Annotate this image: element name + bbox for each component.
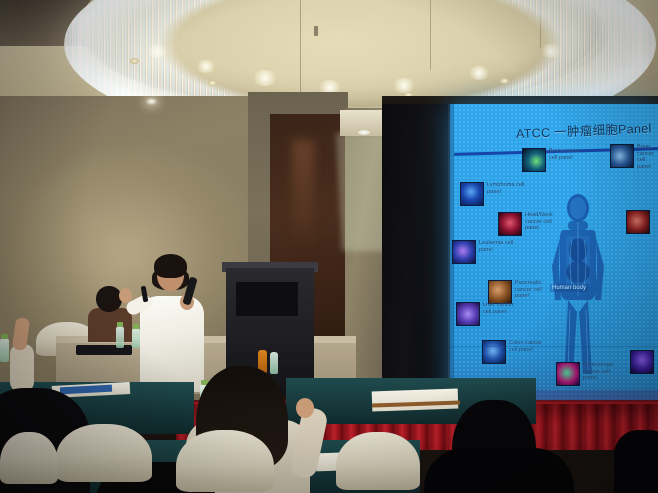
ceiling-downlight-icon xyxy=(146,98,157,105)
conference-room-photo: ATCC 一肿瘤细胞Panel Human body Lymphoma cell… xyxy=(0,0,658,493)
presenter-hair xyxy=(154,254,187,278)
chandelier-sparkle xyxy=(252,70,278,86)
extra-thumbnail-2 xyxy=(630,350,654,374)
water-bottle[interactable] xyxy=(116,326,124,348)
extra-thumbnail xyxy=(626,210,650,234)
colon-cancer-thumbnail xyxy=(482,340,506,364)
chair-back xyxy=(176,430,274,492)
water-bottle[interactable] xyxy=(270,352,278,374)
lymphoma-cell-panel-item[interactable]: Lymphoma cell panel xyxy=(460,182,527,206)
lectern-monitor[interactable] xyxy=(236,282,298,316)
leukemia-cell-panel-item[interactable]: Leukemia cell panel xyxy=(452,240,519,264)
bottle-cap xyxy=(1,334,8,339)
recessed-downlight xyxy=(130,58,139,64)
audience-member-hand xyxy=(296,398,314,418)
right-cell-thumbnail-2 xyxy=(630,350,654,374)
chandelier-sparkle xyxy=(540,44,562,58)
recessed-downlight xyxy=(208,80,217,86)
presenter-left-hand xyxy=(119,288,132,303)
panel-label: Brain cancer cell panel xyxy=(549,148,589,161)
screen-panel-seam xyxy=(450,346,658,347)
panel-label: Bone cancer cell panel xyxy=(637,144,658,170)
head-neck-cancer-cell-panel-item[interactable]: Head/Neck cancer cell panel xyxy=(498,212,565,236)
bottle-cap xyxy=(133,324,139,329)
brain-cancer-thumbnail xyxy=(522,148,546,172)
right-cell-thumbnail xyxy=(626,210,650,234)
panel-label: Leukemia cell panel xyxy=(479,240,519,253)
human-body-label: Human body xyxy=(550,284,588,292)
gynecologic-cancer-cell-panel-item[interactable]: Gynecologic cancer cell panel xyxy=(556,362,623,386)
sconce-bulb-icon xyxy=(358,130,370,135)
recessed-downlight xyxy=(500,78,509,84)
chair-back xyxy=(336,432,420,490)
chair-back xyxy=(56,424,152,482)
projection-screen[interactable]: ATCC 一肿瘤细胞Panel Human body Lymphoma cell… xyxy=(450,104,658,420)
chandelier-sparkle xyxy=(392,78,416,93)
foreground-silhouette xyxy=(424,448,574,493)
raised-arm xyxy=(10,344,34,392)
bone-cancer-cell-panel-item[interactable]: Bone cancer cell panel xyxy=(610,144,658,170)
presenter-body xyxy=(140,296,204,392)
chandelier-sparkle xyxy=(468,66,490,80)
leukemia-thumbnail xyxy=(452,240,476,264)
head-neck-cancer-thumbnail xyxy=(498,212,522,236)
panel-label: Head/Neck cancer cell panel xyxy=(525,212,565,232)
liver-cancer-thumbnail xyxy=(456,302,480,326)
panel-label: Lymphoma cell panel xyxy=(487,182,527,195)
foreground-silhouette xyxy=(614,430,658,493)
pancreatic-cancer-cell-panel-item[interactable]: Pancreatic cancer cell panel xyxy=(488,280,555,304)
water-bottle[interactable] xyxy=(132,328,140,348)
panel-label: Gynecologic cancer cell panel xyxy=(583,362,623,382)
seated-attendee-body xyxy=(88,308,132,342)
bottle-cap xyxy=(117,322,123,327)
pancreatic-cancer-thumbnail xyxy=(488,280,512,304)
bone-cancer-thumbnail xyxy=(610,144,634,168)
seated-attendee-head xyxy=(96,286,122,312)
panel-label: Liver cancer cell panel xyxy=(483,302,523,315)
liver-cancer-cell-panel-item[interactable]: Liver cancer cell panel xyxy=(456,302,523,326)
brain-cancer-cell-panel-item[interactable]: Brain cancer cell panel xyxy=(522,148,589,172)
chair-back xyxy=(0,432,58,484)
chandelier-sparkle xyxy=(146,44,168,58)
gynecologic-cancer-thumbnail xyxy=(556,362,580,386)
panel-label: Pancreatic cancer cell panel xyxy=(515,280,555,300)
water-bottle[interactable] xyxy=(0,338,9,362)
wood-panel-highlight xyxy=(292,140,314,250)
chandelier-sparkle xyxy=(196,60,216,73)
lymphoma-thumbnail xyxy=(460,182,484,206)
colon-cancer-cell-panel-item[interactable]: Colon cancer cell panel xyxy=(482,340,549,364)
